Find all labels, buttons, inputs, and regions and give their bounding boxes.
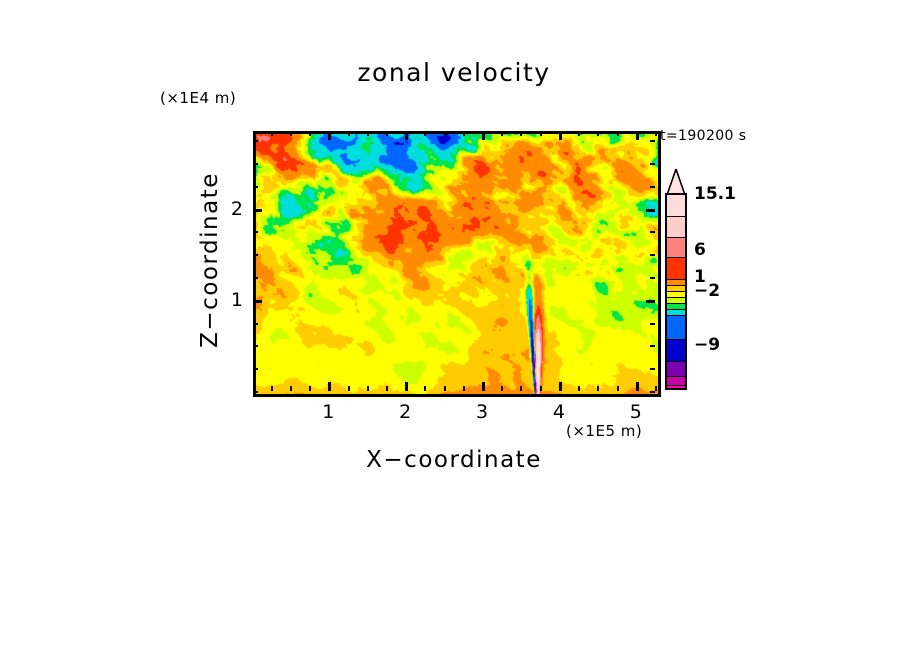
axis-tick [559,131,562,140]
axis-tick [253,209,262,212]
contour-field-canvas [256,134,658,394]
timestamp-label: t=190200 s [660,128,746,144]
colorbar-tick-label: −2 [694,281,720,301]
axis-tick [482,382,485,391]
axis-tick [520,386,522,391]
axis-tick [650,368,655,370]
colorbar-band [667,217,685,238]
axis-tick [309,386,311,391]
colorbar [665,193,687,390]
contour-plot-figure: zonal velocity (×1E4 m) Z−coordinate 123… [0,0,904,654]
axis-tick [424,131,426,136]
colorbar-tick-label: 6 [694,240,706,260]
axis-tick [253,345,258,347]
axis-tick [253,163,258,165]
axis-tick [328,382,331,391]
axis-tick [253,391,258,393]
axis-tick [253,140,258,142]
axis-tick [271,386,273,391]
axis-tick [405,131,408,140]
axis-tick [578,386,580,391]
x-tick-label: 5 [630,401,642,423]
colorbar-tick-label: −9 [694,335,720,355]
axis-tick [650,345,655,347]
axis-tick [386,131,388,136]
axis-tick [444,131,446,136]
x-tick-label: 2 [399,401,411,423]
x-tick-label: 4 [553,401,565,423]
axis-tick [253,368,258,370]
axis-tick [482,131,485,140]
axis-tick [650,231,655,233]
axis-tick [650,277,655,279]
axis-tick [655,131,657,136]
axis-tick [290,131,292,136]
axis-tick [650,323,655,325]
colorbar-band [667,362,685,377]
axis-tick [650,254,655,256]
axis-tick [655,386,657,391]
colorbar-arrow-icon [665,169,687,195]
axis-tick [271,131,273,136]
axis-tick [444,386,446,391]
colorbar-band [667,316,685,340]
axis-tick [253,254,258,256]
axis-tick [386,386,388,391]
axis-tick [424,386,426,391]
colorbar-band [667,258,685,280]
axis-tick [309,131,311,136]
axis-tick [540,386,542,391]
axis-tick [253,231,258,233]
axis-tick [253,323,258,325]
colorbar-tick-label: 15.1 [694,184,736,204]
colorbar-band [667,238,685,258]
axis-tick [520,131,522,136]
axis-tick [617,386,619,391]
axis-tick [405,382,408,391]
axis-tick [290,386,292,391]
axis-tick [597,386,599,391]
axis-tick [650,140,655,142]
colorbar-band [667,386,685,390]
axis-tick [348,386,350,391]
y-tick-label: 1 [221,289,243,311]
colorbar-band [667,195,685,217]
axis-tick [463,131,465,136]
y-tick-label: 2 [221,198,243,220]
axis-tick [636,131,639,140]
y-axis-title-text: Z−coordinate [197,172,223,348]
axis-tick [501,386,503,391]
axis-tick [540,131,542,136]
axis-tick [617,131,619,136]
y-axis-title: Z−coordinate [196,160,224,360]
axis-tick [650,391,655,393]
axis-tick [253,300,262,303]
axis-tick [348,131,350,136]
plot-area [253,131,661,397]
x-axis-title: X−coordinate [253,447,655,473]
axis-tick [463,386,465,391]
axis-tick [328,131,331,140]
axis-tick [650,163,655,165]
x-tick-label: 3 [476,401,488,423]
axis-tick [646,300,655,303]
axis-tick [501,131,503,136]
colorbar-band [667,377,685,386]
axis-tick [559,382,562,391]
axis-tick [578,131,580,136]
axis-tick [367,131,369,136]
page-title: zonal velocity [253,58,655,87]
axis-tick [253,186,258,188]
x-axis-unit-label: (×1E5 m) [566,422,642,440]
y-axis-unit-label: (×1E4 m) [160,89,236,107]
axis-tick [646,209,655,212]
axis-tick [253,277,258,279]
axis-tick [650,186,655,188]
axis-tick [636,382,639,391]
colorbar-band [667,340,685,362]
x-tick-label: 1 [322,401,334,423]
axis-tick [597,131,599,136]
axis-tick [367,386,369,391]
